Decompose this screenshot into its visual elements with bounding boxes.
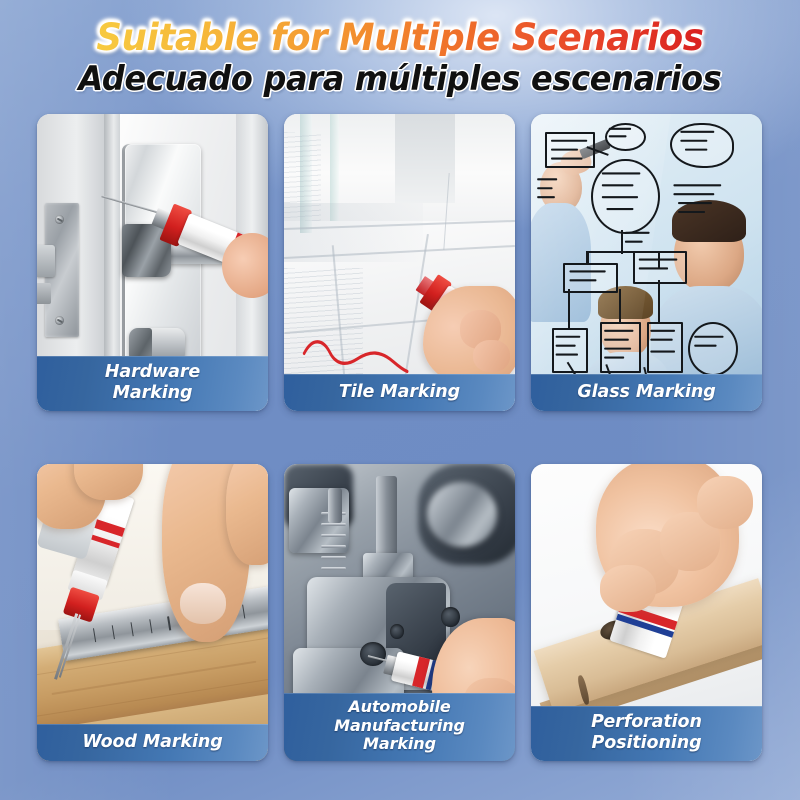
finger [226, 464, 268, 565]
tile-marking-photo [284, 114, 515, 411]
knuckle [697, 476, 752, 529]
door-latch-secondary [37, 283, 51, 304]
page-title-spanish: Adecuado para múltiples escenarios [24, 56, 776, 96]
scenario-card-grid: Hardware Marking [37, 114, 763, 761]
scenario-card-glass-marking[interactable]: Glass Marking [531, 114, 762, 411]
engine-blur-part [427, 482, 496, 547]
red-marker-squiggle [302, 334, 408, 376]
fingernail [180, 583, 226, 625]
glass-marking-photo [531, 114, 762, 411]
ruler-tick [168, 616, 171, 630]
tile-texture [284, 132, 321, 221]
door-latch [37, 245, 55, 278]
card-label-line: Positioning [537, 733, 756, 753]
card-label-perforation-positioning: Perforation Positioning [531, 706, 762, 761]
card-label-line: Manufacturing [290, 717, 509, 736]
card-label-line: Perforation [537, 712, 756, 732]
ruler-tick [130, 622, 133, 636]
ruler-tick [112, 625, 115, 639]
poster-canvas: Suitable for Multiple Scenarios Adecuado… [0, 0, 800, 800]
ruler-tick [149, 619, 152, 633]
card-label-line: Marking [290, 735, 509, 754]
scenario-card-tile-marking[interactable]: Tile Marking [284, 114, 515, 411]
wood-marking-photo [37, 464, 268, 761]
card-label-hardware-marking: Hardware Marking [37, 356, 268, 411]
card-label-line: Automobile [290, 698, 509, 717]
card-label-glass-marking: Glass Marking [531, 374, 762, 411]
card-label-line: Glass Marking [537, 382, 756, 402]
card-label-tile-marking: Tile Marking [284, 374, 515, 411]
card-label-line: Tile Marking [290, 382, 509, 402]
header: Suitable for Multiple Scenarios Adecuado… [0, 0, 800, 112]
scenario-card-hardware-marking[interactable]: Hardware Marking [37, 114, 268, 411]
page-title-english: Suitable for Multiple Scenarios [16, 0, 784, 56]
drawn-handwriting [531, 114, 762, 411]
scenario-card-wood-marking[interactable]: Wood Marking [37, 464, 268, 761]
card-label-wood-marking: Wood Marking [37, 724, 268, 761]
spring-stem [328, 488, 342, 524]
card-label-line: Wood Marking [43, 732, 262, 752]
thumb [600, 565, 655, 613]
ruler-tick [242, 604, 245, 618]
finger [473, 340, 510, 373]
card-label-line: Marking [43, 383, 262, 403]
bore-hole [441, 607, 459, 628]
scenario-card-automobile-manufacturing-marking[interactable]: LONG Automobile Manufacturing Marking [284, 464, 515, 761]
doorway [395, 114, 455, 203]
card-label-automobile-manufacturing-marking: Automobile Manufacturing Marking [284, 693, 515, 761]
card-label-line: Hardware [43, 362, 262, 382]
scenario-card-perforation-positioning[interactable]: LONG Perforation Positioning [531, 464, 762, 761]
